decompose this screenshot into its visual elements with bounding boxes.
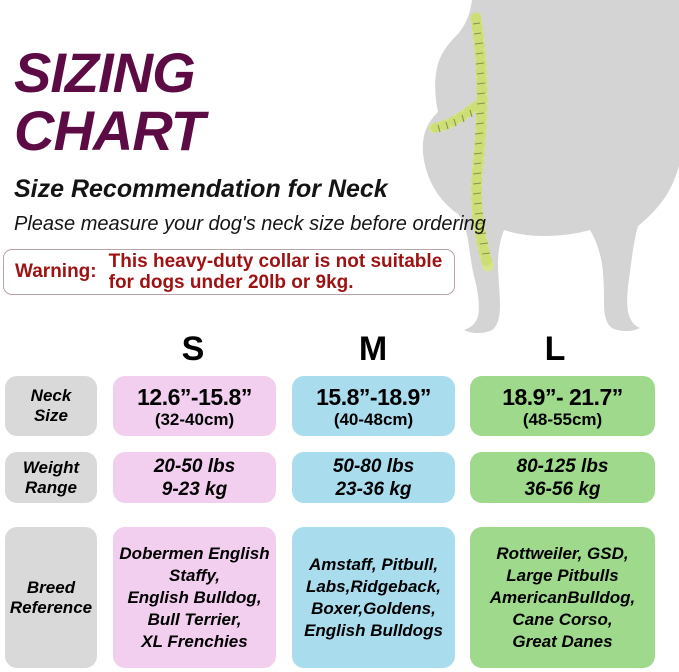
dog-body-shape: [423, 0, 679, 333]
weight-range-large: 80-125 lbs 36-56 kg: [470, 452, 655, 503]
neck-size-medium-cm: (40-48cm): [334, 410, 413, 429]
row-label-breed-reference: Breed Reference: [5, 527, 97, 668]
instruction-text: Please measure your dog's neck size befo…: [14, 212, 486, 236]
warning-box: Warning: This heavy-duty collar is not s…: [3, 249, 455, 295]
neck-size-medium-inches: 15.8”-18.9”: [316, 384, 431, 410]
neck-size-small: 12.6”-15.8” (32-40cm): [113, 376, 276, 436]
neck-size-small-inches: 12.6”-15.8”: [137, 384, 252, 410]
dog-silhouette-illustration: [420, 0, 679, 334]
row-label-neck-size: Neck Size: [5, 376, 97, 436]
page-title: SIZING CHART: [14, 44, 454, 160]
size-header-l: L: [470, 332, 640, 366]
row-label-weight-range: Weight Range: [5, 452, 97, 503]
size-header-m: M: [288, 332, 458, 366]
breed-reference-large: Rottweiler, GSD, Large Pitbulls American…: [470, 527, 655, 668]
weight-range-medium: 50-80 lbs 23-36 kg: [292, 452, 455, 503]
neck-size-large: 18.9”- 21.7” (48-55cm): [470, 376, 655, 436]
size-header-s: S: [108, 332, 278, 366]
title-line-2: CHART: [14, 102, 454, 160]
warning-message: This heavy-duty collar is not suitable f…: [97, 251, 443, 293]
sizing-chart-page: SIZING CHART Size Recommendation for Nec…: [0, 0, 679, 672]
neck-size-large-inches: 18.9”- 21.7”: [502, 384, 623, 410]
warning-label: Warning:: [4, 261, 97, 283]
title-line-1: SIZING: [14, 44, 454, 102]
subtitle: Size Recommendation for Neck: [14, 175, 388, 203]
weight-range-small: 20-50 lbs 9-23 kg: [113, 452, 276, 503]
neck-size-large-cm: (48-55cm): [523, 410, 602, 429]
neck-size-medium: 15.8”-18.9” (40-48cm): [292, 376, 455, 436]
neck-size-small-cm: (32-40cm): [155, 410, 234, 429]
breed-reference-small: Dobermen English Staffy, English Bulldog…: [113, 527, 276, 668]
breed-reference-medium: Amstaff, Pitbull, Labs,Ridgeback, Boxer,…: [292, 527, 455, 668]
